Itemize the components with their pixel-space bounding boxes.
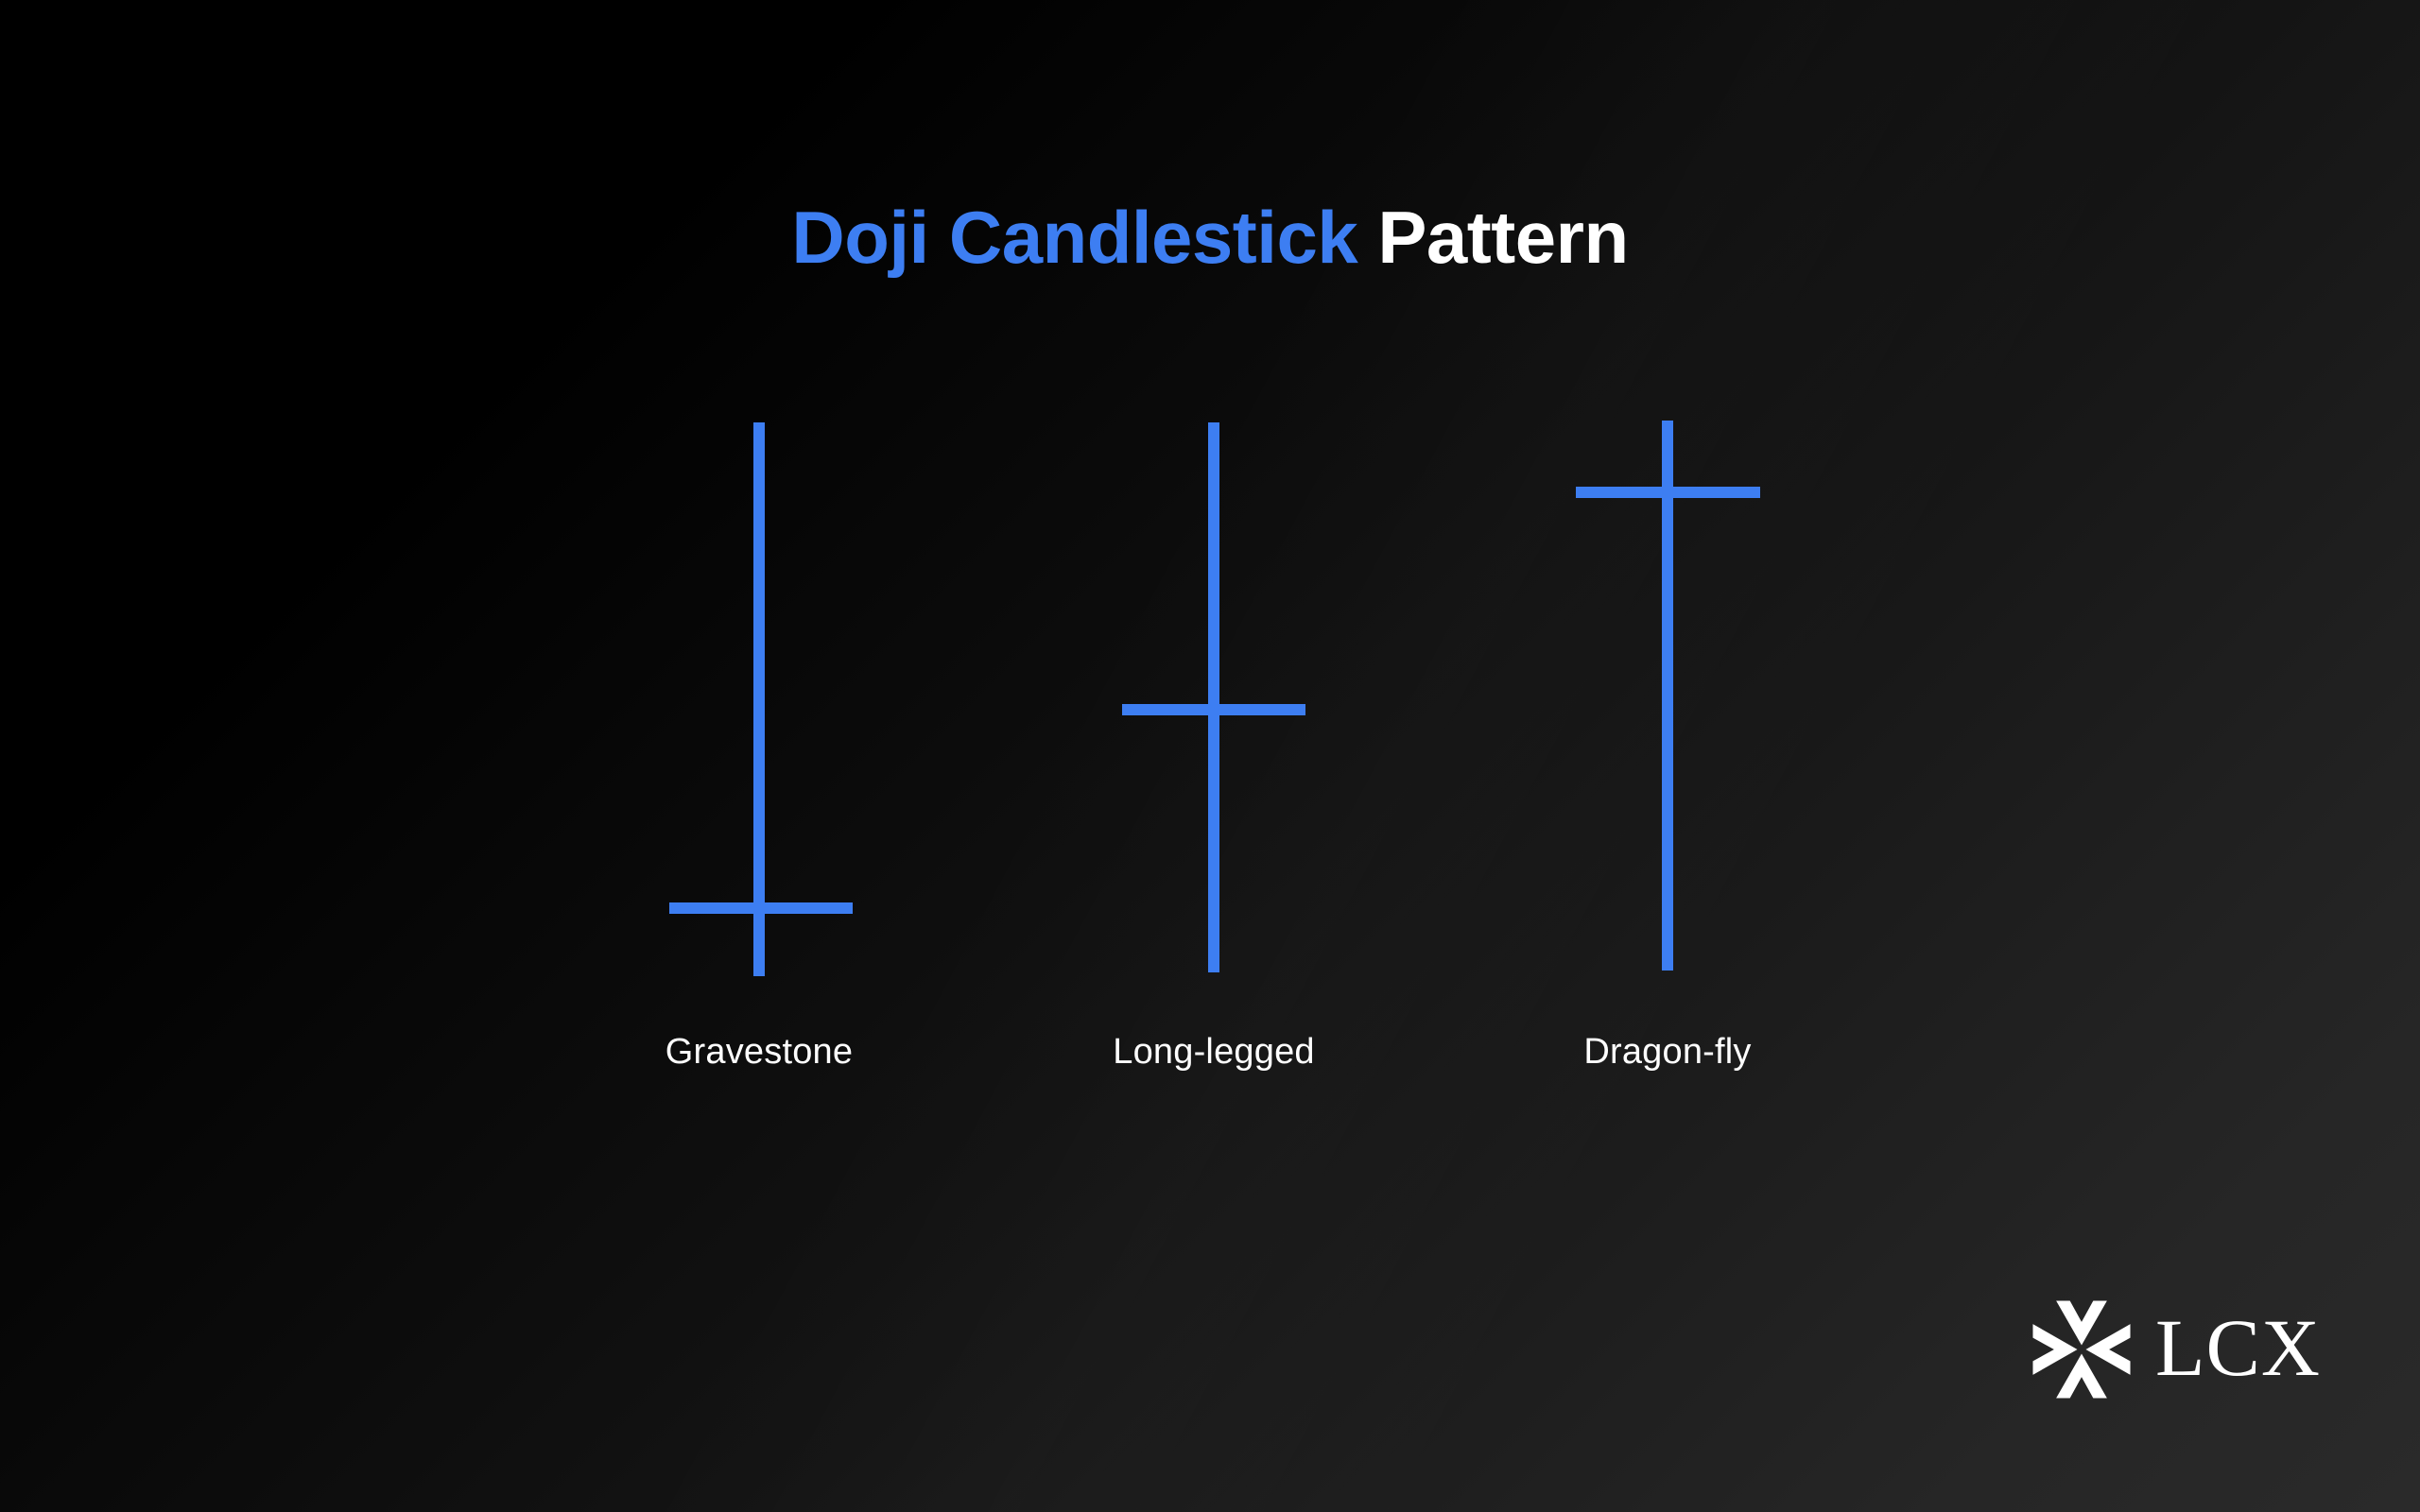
- candle-wick-long-legged: [1208, 422, 1219, 972]
- page-title-accent: Doji Candlestick: [791, 196, 1357, 279]
- lcx-star-x-logo-icon: [2029, 1297, 2135, 1402]
- candle-openclose-dragon-fly: [1576, 487, 1760, 498]
- doji-pattern-infographic: Doji Candlestick Pattern Gravestone Long…: [0, 0, 2420, 1512]
- candle-label-long-legged: Long-legged: [1025, 1032, 1403, 1073]
- candle-openclose-gravestone: [669, 902, 853, 914]
- candle-label-dragon-fly: Dragon-fly: [1478, 1032, 1857, 1073]
- page-title-plain: Pattern: [1357, 196, 1628, 279]
- candle-openclose-long-legged: [1122, 704, 1305, 715]
- candle-wick-dragon-fly: [1662, 421, 1673, 971]
- candle-label-gravestone: Gravestone: [570, 1032, 948, 1073]
- lcx-wordmark: LCX: [2155, 1307, 2321, 1388]
- page-title: Doji Candlestick Pattern: [0, 200, 2420, 274]
- candle-wick-gravestone: [753, 422, 765, 976]
- lcx-brand-logo: LCX: [2029, 1297, 2321, 1402]
